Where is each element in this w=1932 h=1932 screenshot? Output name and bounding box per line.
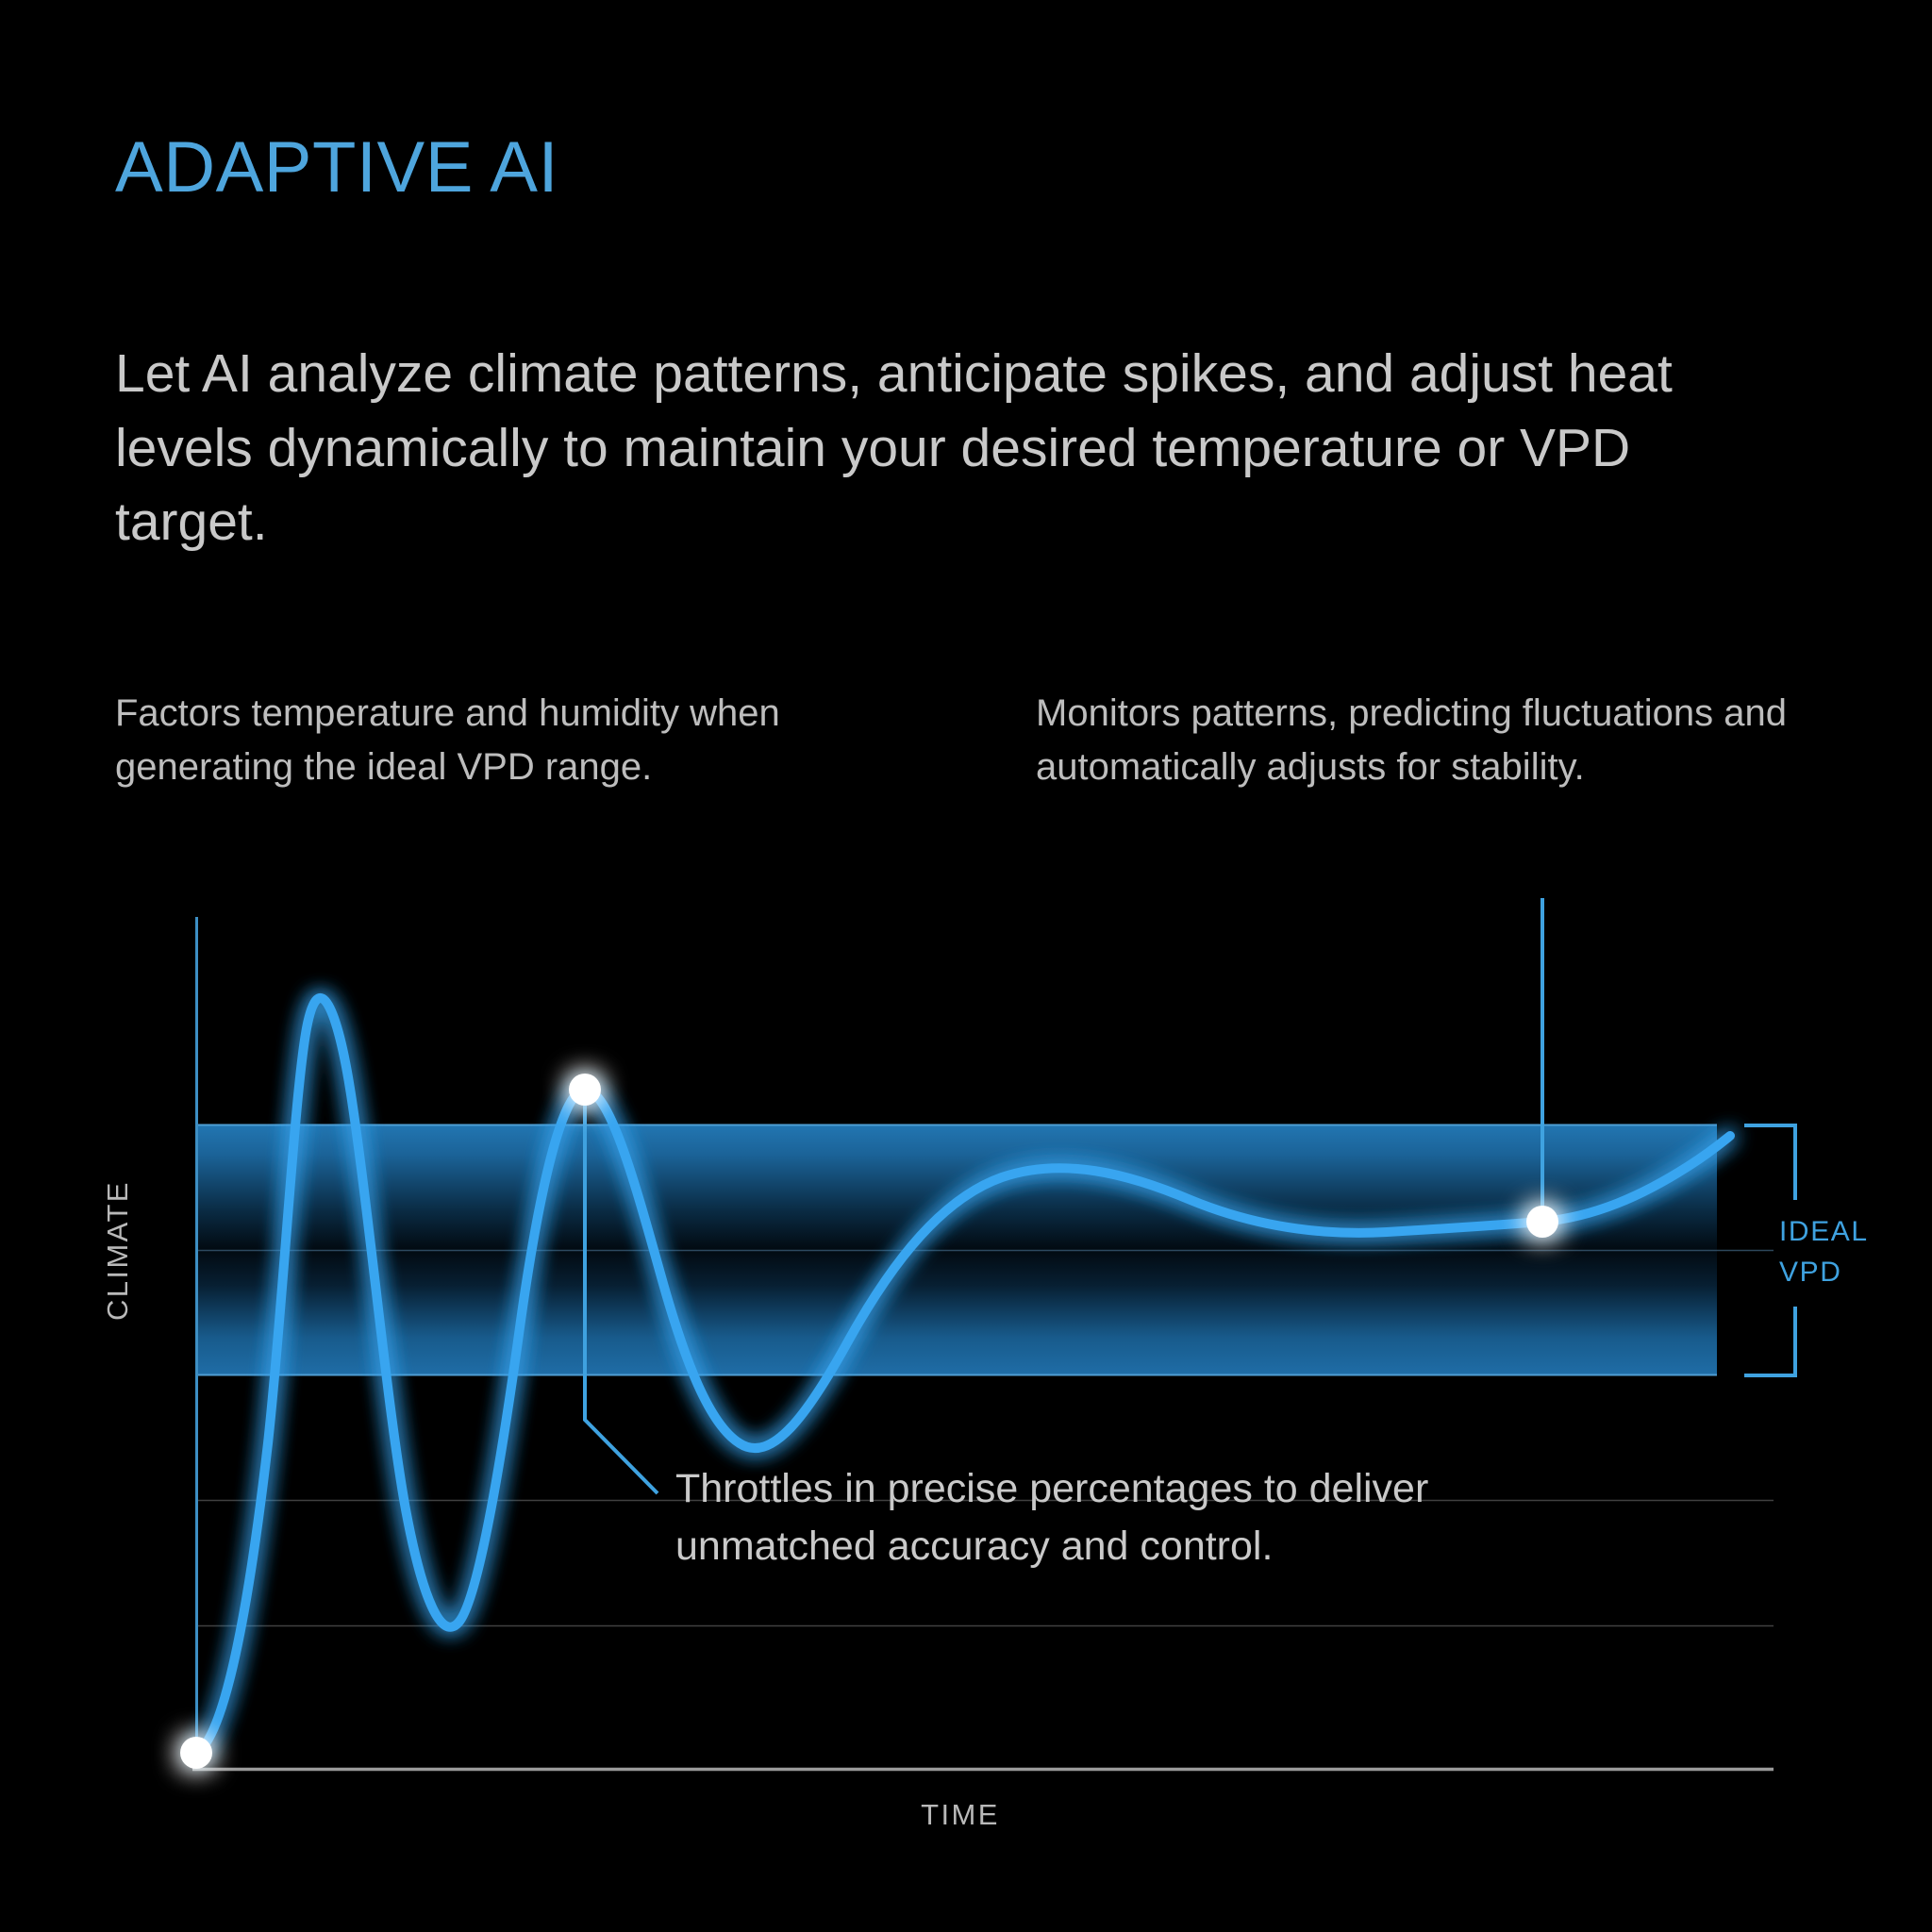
origin-marker <box>180 1737 212 1769</box>
throttle-callout: Throttles in precise percentages to deli… <box>675 1460 1562 1575</box>
ideal-vpd-label-line1: IDEAL <box>1779 1212 1869 1253</box>
feature-column-left: Factors temperature and humidity when ge… <box>115 687 813 794</box>
ideal-vpd-bracket-lower <box>1744 1307 1795 1375</box>
x-axis-label: TIME <box>921 1798 1000 1832</box>
climate-curve <box>196 998 1730 1753</box>
ideal-vpd-label-line2: VPD <box>1779 1253 1869 1293</box>
ideal-vpd-bracket <box>1744 1125 1795 1200</box>
ideal-vpd-band <box>196 1124 1717 1375</box>
ideal-vpd-label: IDEAL VPD <box>1779 1212 1869 1292</box>
feature-column-right: Monitors patterns, predicting fluctuatio… <box>1036 687 1828 794</box>
infographic-root: ADAPTIVE AI Let AI analyze climate patte… <box>0 0 1932 1932</box>
climate-chart <box>0 0 1932 1932</box>
settle-marker <box>1526 1206 1558 1238</box>
leader-line-peak <box>585 1094 658 1493</box>
y-axis-label: CLIMATE <box>101 1180 135 1321</box>
lede-paragraph: Let AI analyze climate patterns, anticip… <box>115 337 1775 559</box>
peak-marker <box>569 1074 601 1106</box>
page-title: ADAPTIVE AI <box>115 132 558 204</box>
